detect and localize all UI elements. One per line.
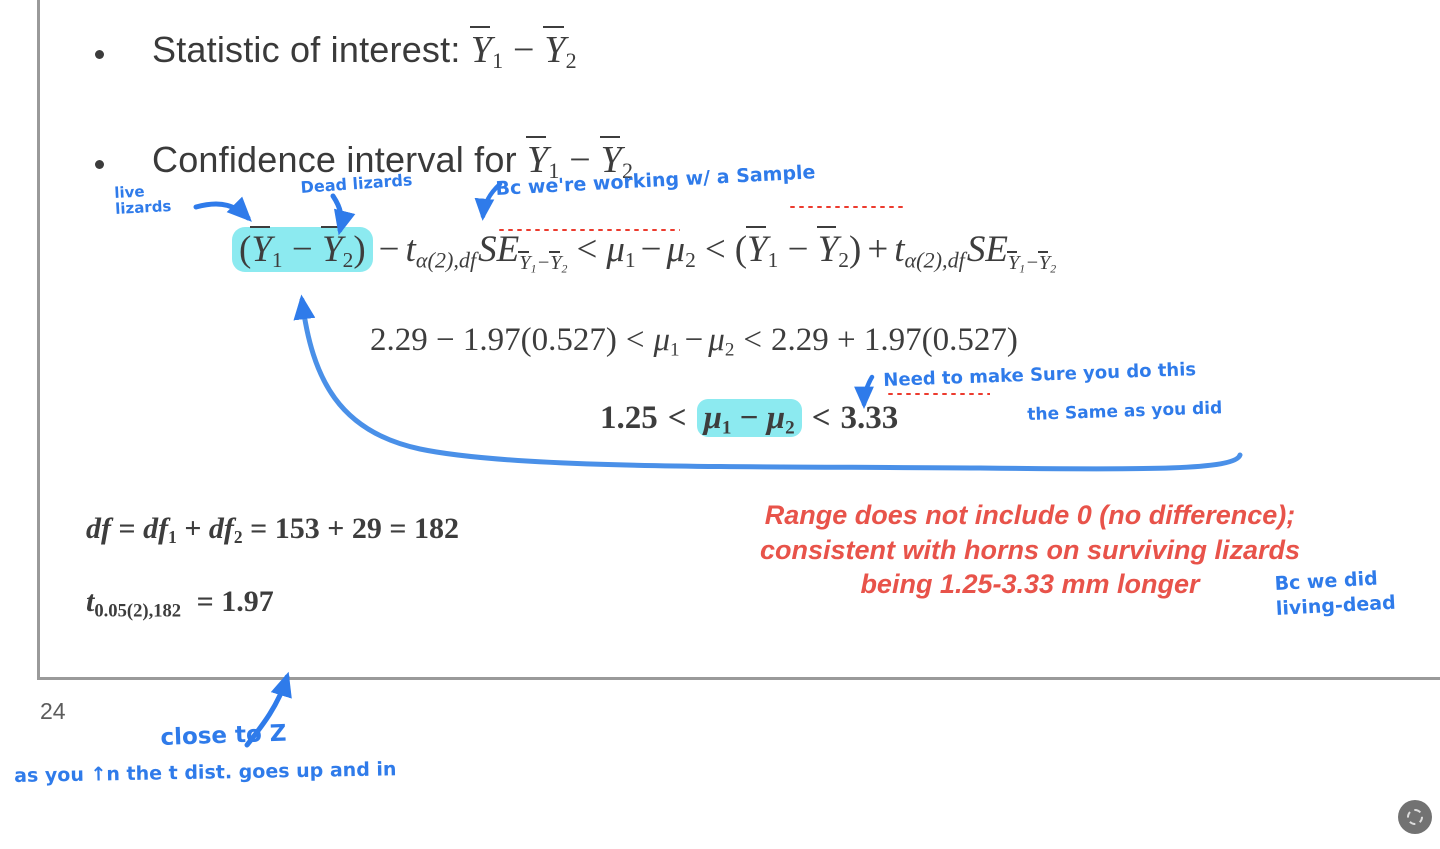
dotted-underline-sample bbox=[788, 205, 906, 209]
numeric-left-bound: 2.29 − 1.97(0.527) bbox=[370, 322, 617, 358]
bullet-statistic-label: Statistic of interest: bbox=[152, 29, 461, 70]
annotation-close-to-z: close to Z bbox=[160, 721, 287, 751]
numeric-substitution-line: 2.29 − 1.97(0.527)<μ1−μ2<2.29 + 1.97(0.5… bbox=[370, 322, 1018, 361]
dotted-underline-mu-difference bbox=[886, 392, 990, 396]
annotation-living-dead: Bc we did living-dead bbox=[1274, 566, 1396, 622]
highlight-mu-difference: μ1 − μ2 bbox=[697, 399, 802, 437]
settings-gear-icon[interactable] bbox=[1398, 800, 1432, 834]
conclusion-line-1: Range does not include 0 (no difference)… bbox=[700, 498, 1360, 533]
df2-value: 29 bbox=[352, 512, 382, 545]
annotation-live-lizards: live lizards bbox=[114, 183, 172, 217]
result-interval-line: 1.25<μ1 − μ2<3.33 bbox=[600, 400, 898, 439]
bullet-statistic-text: Statistic of interest: Y1 − Y2 bbox=[152, 28, 577, 74]
statistic-expression: Y1 − Y2 bbox=[471, 29, 577, 71]
t-subscript: 0.05(2),182 bbox=[94, 601, 181, 622]
bullet-statistic-of-interest: Statistic of interest: Y1 − Y2 bbox=[95, 28, 577, 74]
degrees-of-freedom-line: df = df1 + df2 = 153 + 29 = 182 bbox=[86, 512, 459, 548]
result-lower-bound: 1.25 bbox=[600, 400, 658, 436]
annotation-live-lizards-line2: lizards bbox=[115, 199, 172, 218]
dotted-underline-standard-error bbox=[497, 228, 680, 232]
page-number: 24 bbox=[40, 698, 66, 725]
df1-value: 153 bbox=[275, 512, 320, 545]
result-upper-bound: 3.33 bbox=[841, 400, 899, 436]
slide-viewer: Statistic of interest: Y1 − Y2 Confidenc… bbox=[0, 0, 1440, 849]
ybar-difference-right: (Y1 − Y2) bbox=[735, 229, 862, 270]
conclusion-line-2: consistent with horns on surviving lizar… bbox=[700, 533, 1360, 568]
t-critical-value: 1.97 bbox=[221, 585, 274, 618]
bullet-marker-icon bbox=[95, 160, 104, 169]
bullet-marker-icon bbox=[95, 50, 104, 59]
df-total-value: 182 bbox=[414, 512, 459, 545]
bullet-ci-label: Confidence interval for bbox=[152, 139, 517, 180]
conclusion-line-3: being 1.25-3.33 mm longer bbox=[700, 567, 1360, 602]
t-critical-line: t0.05(2),182 = 1.97 bbox=[86, 585, 274, 623]
highlight-ybar-difference-left: (Y1 − Y2) bbox=[232, 227, 373, 272]
numeric-right-bound: 2.29 + 1.97(0.527) bbox=[771, 322, 1018, 358]
annotation-t-dist-note: as you ↑n the t dist. goes up and in bbox=[14, 758, 397, 787]
conclusion-text: Range does not include 0 (no difference)… bbox=[700, 498, 1360, 602]
confidence-interval-formula: (Y1 − Y2)−tα(2),dfSEY1−Y2<μ1−μ2<(Y1 − Y2… bbox=[232, 228, 1056, 276]
